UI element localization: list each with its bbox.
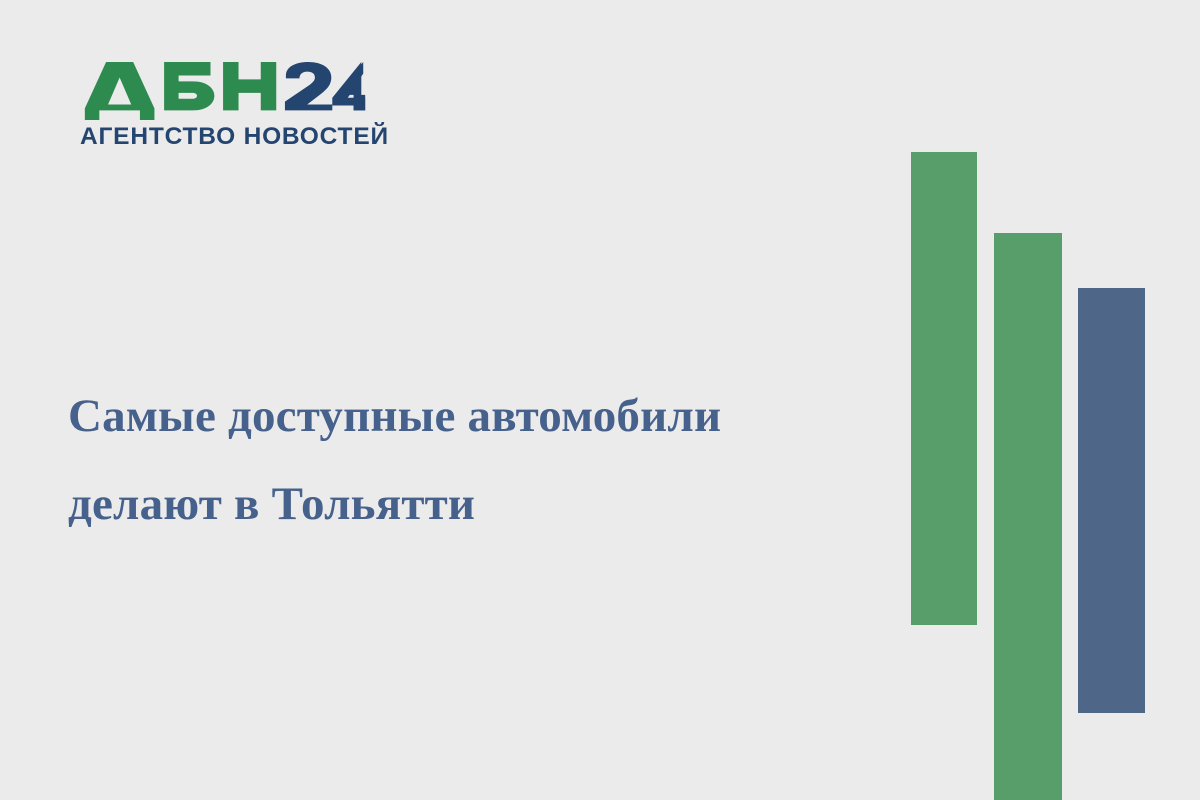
news-card: АГЕНТСТВО НОВОСТЕЙ Самые доступные автом…	[0, 0, 1200, 800]
headline-line-2: делают в Тольятти	[68, 460, 868, 548]
headline-line-1: Самые доступные автомобили	[68, 372, 868, 460]
logo-wordmark-icon	[80, 62, 370, 120]
logo-tagline: АГЕНТСТВО НОВОСТЕЙ	[80, 125, 370, 150]
headline: Самые доступные автомобили делают в Толь…	[68, 372, 868, 548]
decoration-bar-2	[994, 233, 1062, 800]
decoration-bar-3	[1078, 288, 1145, 713]
abn24-logo[interactable]: АГЕНТСТВО НОВОСТЕЙ	[80, 62, 370, 150]
decoration-bar-1	[911, 152, 977, 625]
